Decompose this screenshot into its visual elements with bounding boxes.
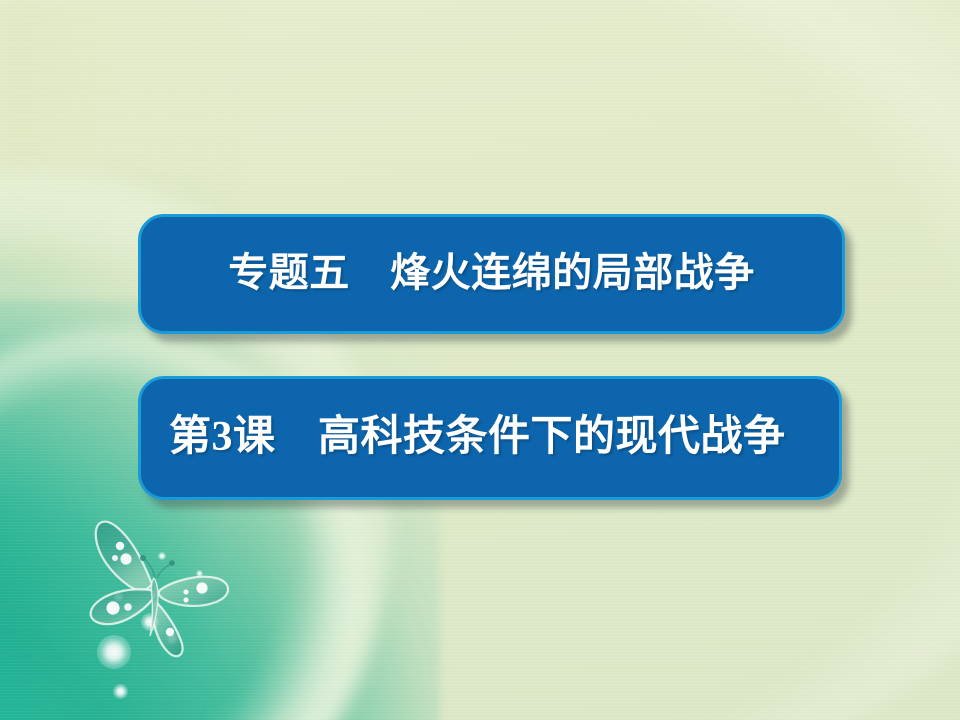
lesson-title-text: 第3课 高科技条件下的现代战争 (141, 416, 786, 460)
butterfly-icon (74, 512, 239, 662)
title-slide: 专题五 烽火连绵的局部战争 第3课 高科技条件下的现代战争 (0, 0, 960, 720)
topic-title-box: 专题五 烽火连绵的局部战争 (138, 214, 845, 334)
light-orb (113, 684, 128, 699)
lesson-title-box: 第3课 高科技条件下的现代战争 (138, 376, 842, 500)
topic-title-text: 专题五 烽火连绵的局部战争 (228, 253, 755, 295)
